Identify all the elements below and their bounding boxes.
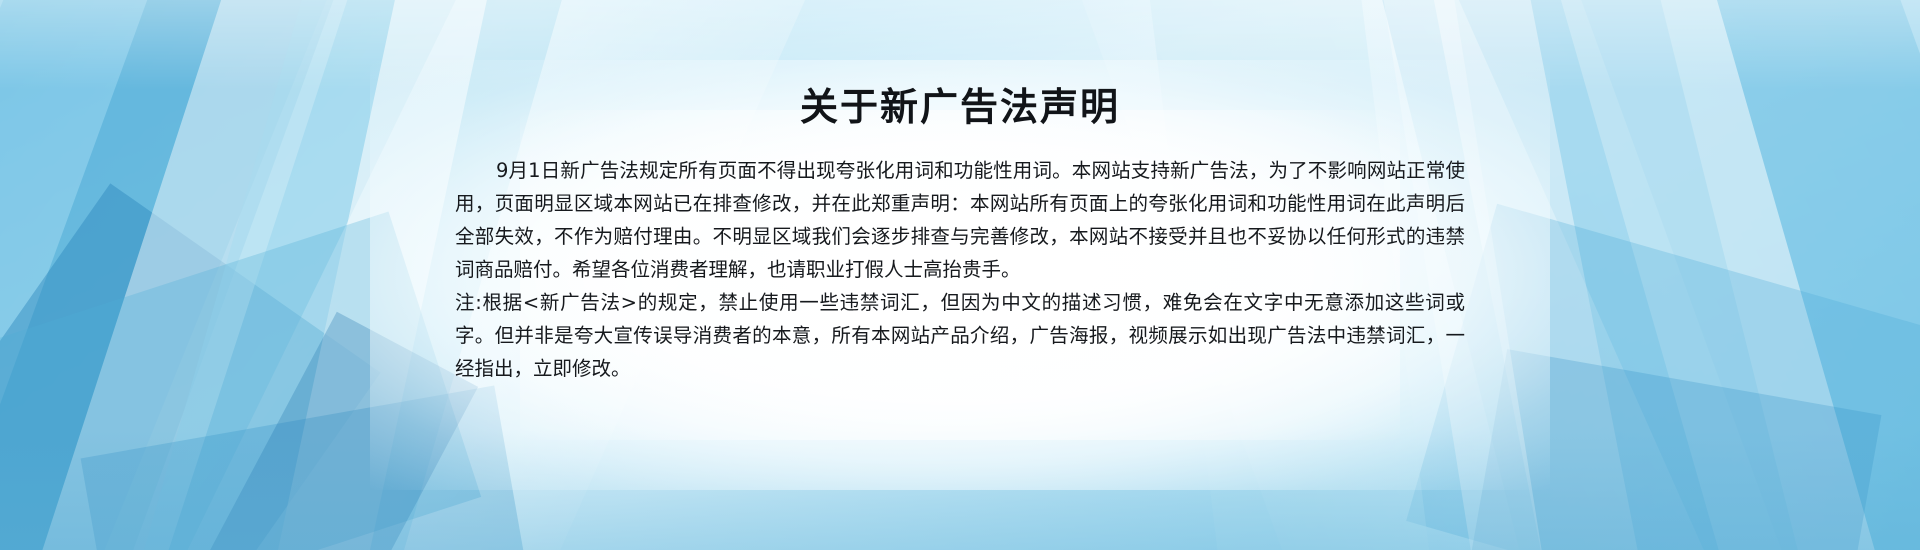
- crystal-facet-right-1: [1431, 0, 1920, 550]
- crystal-facet-right-7: [1459, 349, 1882, 550]
- statement-content: 关于新广告法声明 9月1日新广告法规定所有页面不得出现夸张化用词和功能性用词。本…: [455, 0, 1465, 550]
- crystal-facet-right-2: [1509, 0, 1920, 550]
- crystal-facet-left-3: [0, 0, 357, 550]
- statement-body: 9月1日新广告法规定所有页面不得出现夸张化用词和功能性用词。本网站支持新广告法，…: [455, 154, 1465, 385]
- page-title: 关于新广告法声明: [455, 84, 1465, 132]
- crystal-facet-left-2: [0, 0, 386, 550]
- crystal-facet-left-5: [16, 0, 365, 550]
- statement-paragraph-note: 注:根据<新广告法>的规定，禁止使用一些违禁词汇，但因为中文的描述习惯，难免会在…: [455, 286, 1465, 385]
- crystal-facet-right-3: [1532, 0, 1919, 550]
- crystal-facet-right-6: [1406, 204, 1920, 550]
- crystal-facet-left-10: [182, 312, 478, 550]
- statement-paragraph-declaration: 9月1日新广告法规定所有页面不得出现夸张化用词和功能性用词。本网站支持新广告法，…: [455, 154, 1465, 286]
- advertising-law-statement-banner: 关于新广告法声明 9月1日新广告法规定所有页面不得出现夸张化用词和功能性用词。本…: [0, 0, 1920, 550]
- crystal-facet-left-4: [0, 183, 381, 550]
- crystal-facet-left-1: [0, 0, 461, 550]
- crystal-facet-left-8: [0, 212, 481, 550]
